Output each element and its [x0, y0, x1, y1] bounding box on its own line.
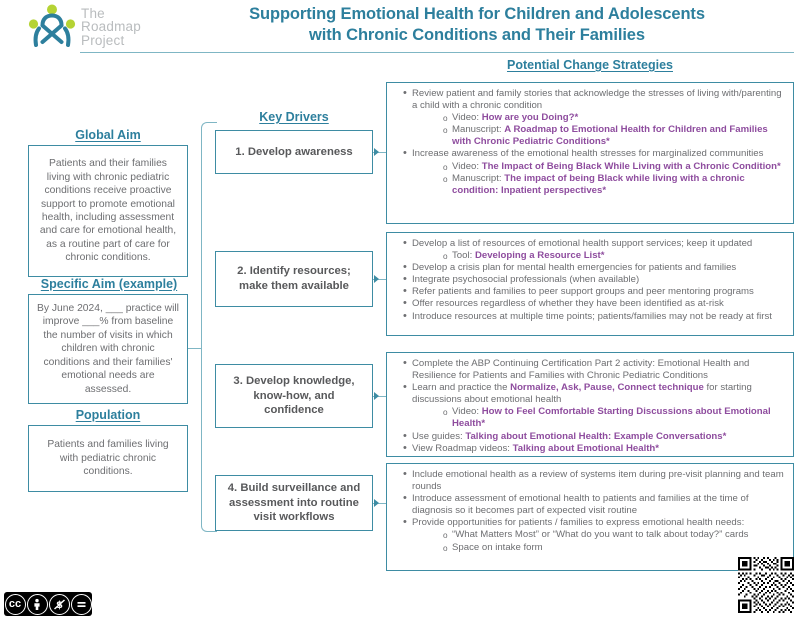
- roadmap-project-logo: The Roadmap Project: [28, 3, 160, 51]
- strategy-bullet: Use guides: Talking about Emotional Heal…: [405, 431, 787, 443]
- strategy-text: Integrate psychosocial professionals (wh…: [412, 274, 639, 285]
- arrow-driver-2: [374, 275, 379, 283]
- sub-prefix: Video:: [452, 161, 482, 172]
- strategy-bullet: Integrate psychosocial professionals (wh…: [405, 274, 787, 286]
- column-heading-global-aim: Global Aim: [28, 128, 188, 142]
- strategy-bullet: Refer patients and families to peer supp…: [405, 286, 787, 298]
- driver-label-3: 3. Develop knowledge, know-how, and conf…: [224, 374, 364, 418]
- column-heading-population: Population: [28, 408, 188, 422]
- strategy-bullet: Increase awareness of the emotional heal…: [405, 148, 787, 196]
- sub-text: “What Matters Most” or “What do you want…: [452, 529, 748, 540]
- driver-box-2[interactable]: 2. Identify resources; make them availab…: [215, 251, 373, 307]
- strategy-subbullet: Video: The Impact of Being Black While L…: [443, 161, 787, 173]
- strategy-subbullet: “What Matters Most” or “What do you want…: [443, 529, 787, 541]
- strategy-text: Develop a crisis plan for mental health …: [412, 262, 736, 273]
- sub-prefix: Video:: [452, 112, 482, 123]
- strategy-bullet: Develop a crisis plan for mental health …: [405, 262, 787, 274]
- population-box: Patients and families living with pediat…: [28, 425, 188, 492]
- arrow-driver-3: [374, 392, 379, 400]
- resource-link[interactable]: How are you Doing?*: [482, 112, 578, 123]
- driver-spine-bracket: [201, 122, 217, 532]
- strategy-text-prefix: Learn and practice the: [412, 382, 510, 393]
- logo-wordmark: The Roadmap Project: [81, 7, 141, 48]
- column-heading-key-drivers: Key Drivers: [215, 110, 373, 124]
- sub-prefix: Manuscript:: [452, 124, 504, 135]
- strategy-box-4: Include emotional health as a review of …: [386, 463, 794, 571]
- strategy-subbullet: Space on intake form: [443, 542, 787, 554]
- technique-link[interactable]: Normalize, Ask, Pause, Connect technique: [510, 382, 704, 393]
- creative-commons-license-badge[interactable]: cc $: [4, 592, 92, 616]
- strategy-text: Review patient and family stories that a…: [412, 88, 782, 111]
- cc-icon: cc: [5, 594, 26, 615]
- strategy-box-2: Develop a list of resources of emotional…: [386, 232, 794, 336]
- strategy-bullet: Complete the ABP Continuing Certificatio…: [405, 358, 787, 382]
- strategy-bullet: Develop a list of resources of emotional…: [405, 238, 787, 262]
- qr-code[interactable]: [738, 557, 794, 613]
- page-title: Supporting Emotional Health for Children…: [160, 4, 794, 46]
- strategy-subbullet: Manuscript: The impact of being Black wh…: [443, 173, 787, 197]
- arrow-driver-4: [374, 499, 379, 507]
- column-heading-strategies: Potential Change Strategies: [386, 58, 794, 72]
- strategy-text-prefix: View Roadmap videos:: [412, 443, 513, 454]
- cc-by-icon: [27, 594, 48, 615]
- strategy-subbullet: Manuscript: A Roadmap to Emotional Healt…: [443, 124, 787, 148]
- sub-prefix: Tool:: [452, 250, 475, 261]
- strategy-text: Develop a list of resources of emotional…: [412, 238, 752, 249]
- strategy-text: Introduce resources at multiple time poi…: [412, 311, 772, 322]
- strategy-bullet: Introduce resources at multiple time poi…: [405, 311, 787, 323]
- connector-aim-to-spine: [188, 348, 202, 349]
- sub-prefix: Video:: [452, 406, 482, 417]
- strategy-text: Provide opportunities for patients / fam…: [412, 517, 744, 528]
- driver-box-1[interactable]: 1. Develop awareness: [215, 130, 373, 174]
- population-text: Patients and families living with pediat…: [37, 438, 179, 478]
- arrow-driver-1: [374, 148, 379, 156]
- global-aim-text: Patients and their families living with …: [37, 157, 179, 264]
- strategy-bullet: Provide opportunities for patients / fam…: [405, 517, 787, 553]
- strategy-box-3: Complete the ABP Continuing Certificatio…: [386, 352, 794, 457]
- resource-link[interactable]: The Impact of Being Black While Living w…: [482, 161, 781, 172]
- column-heading-specific-aim: Specific Aim (example): [16, 277, 202, 291]
- driver-label-2: 2. Identify resources; make them availab…: [224, 264, 364, 293]
- strategy-box-1: Review patient and family stories that a…: [386, 82, 794, 224]
- strategy-text: Offer resources regardless of whether th…: [412, 298, 724, 309]
- strategy-subbullet: Video: How are you Doing?*: [443, 112, 787, 124]
- strategy-bullet: Review patient and family stories that a…: [405, 88, 787, 148]
- cc-nd-icon: [71, 594, 92, 615]
- cc-nc-icon: $: [49, 594, 70, 615]
- resource-link[interactable]: Developing a Resource List*: [475, 250, 605, 261]
- strategy-text: Complete the ABP Continuing Certificatio…: [412, 358, 749, 381]
- resource-link[interactable]: Talking about Emotional Health: Example …: [465, 431, 726, 442]
- strategy-text: Introduce assessment of emotional health…: [412, 493, 749, 516]
- strategy-bullet: Include emotional health as a review of …: [405, 469, 787, 493]
- logo-line-2: Roadmap: [81, 20, 141, 34]
- resource-link[interactable]: How to Feel Comfortable Starting Discuss…: [452, 406, 771, 429]
- strategy-bullet: Introduce assessment of emotional health…: [405, 493, 787, 517]
- resource-link[interactable]: Talking about Emotional Health*: [513, 443, 659, 454]
- sub-prefix: Manuscript:: [452, 173, 504, 184]
- strategy-text-prefix: Use guides:: [412, 431, 465, 442]
- no-money-glyph: $: [53, 598, 66, 611]
- person-glyph: [31, 598, 43, 610]
- page-title-line-1: Supporting Emotional Health for Children…: [160, 4, 794, 25]
- strategy-bullet: Offer resources regardless of whether th…: [405, 298, 787, 310]
- strategy-text: Refer patients and families to peer supp…: [412, 286, 754, 297]
- roadmap-logo-icon: [28, 4, 76, 50]
- sub-text: Space on intake form: [452, 542, 543, 553]
- specific-aim-text: By June 2024, ___ practice will improve …: [37, 302, 179, 396]
- strategy-subbullet: Tool: Developing a Resource List*: [443, 250, 787, 262]
- strategy-bullet: Learn and practice the Normalize, Ask, P…: [405, 382, 787, 430]
- header-divider: [80, 52, 794, 53]
- strategy-text: Increase awareness of the emotional heal…: [412, 148, 763, 159]
- driver-box-3[interactable]: 3. Develop knowledge, know-how, and conf…: [215, 364, 373, 428]
- driver-label-1: 1. Develop awareness: [235, 145, 352, 160]
- driver-label-4: 4. Build surveillance and assessment int…: [224, 481, 364, 525]
- strategy-subbullet: Video: How to Feel Comfortable Starting …: [443, 406, 787, 430]
- global-aim-box: Patients and their families living with …: [28, 145, 188, 277]
- strategy-text: Include emotional health as a review of …: [412, 469, 784, 492]
- specific-aim-box: By June 2024, ___ practice will improve …: [28, 294, 188, 404]
- strategy-bullet: View Roadmap videos: Talking about Emoti…: [405, 443, 787, 455]
- logo-line-3: Project: [81, 34, 141, 48]
- equals-glyph: [75, 598, 88, 611]
- driver-diagram-page: The Roadmap Project Supporting Emotional…: [0, 0, 800, 619]
- driver-box-4[interactable]: 4. Build surveillance and assessment int…: [215, 475, 373, 531]
- logo-line-1: The: [81, 7, 141, 21]
- page-title-line-2: with Chronic Conditions and Their Famili…: [160, 25, 794, 46]
